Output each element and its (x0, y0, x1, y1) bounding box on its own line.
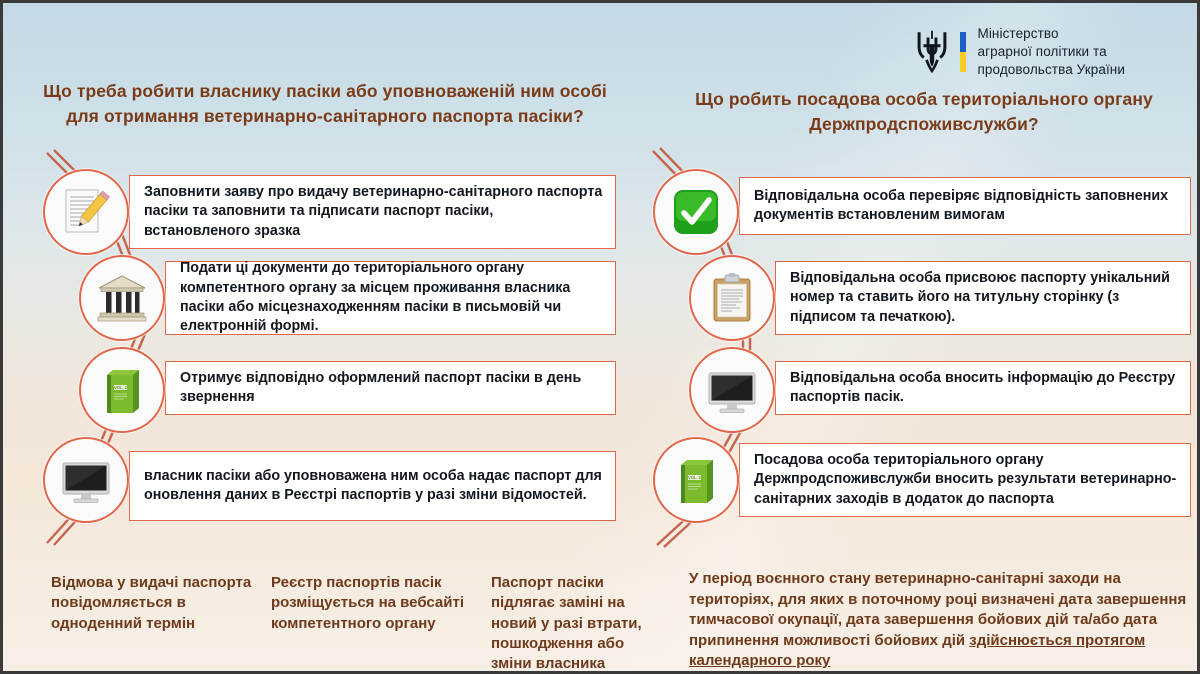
authority-step-2-text: Відповідальна особа присвоює паспорту ун… (790, 269, 1178, 327)
svg-text:VOL. 2: VOL. 2 (114, 385, 128, 390)
classical-building-icon (95, 271, 149, 325)
owner-step-1-text: Заповнити заяву про видачу ветеринарно-с… (144, 183, 603, 241)
authority-step-1-bubble (653, 169, 739, 255)
authority-step-1-text: Відповідальна особа перевіряє відповідні… (754, 187, 1178, 226)
infographic-slide: Міністерство аграрної політики та продов… (0, 0, 1200, 674)
authority-step-2-card: Відповідальна особа присвоює паспорту ун… (775, 261, 1191, 335)
note-and-pencil-icon (59, 185, 113, 239)
authority-step-3-card: Відповідальна особа вносить інформацію д… (775, 361, 1191, 415)
owner-step-4-text: власник пасіки або уповноважена ним особ… (144, 467, 603, 506)
owner-step-4-card: власник пасіки або уповноважена ним особ… (129, 451, 616, 521)
owner-step-2-card: Подати ці документи до територіального о… (165, 261, 616, 335)
clipboard-icon (705, 271, 759, 325)
note-wartime: У період воєнного стану ветеринарно-сані… (689, 569, 1194, 672)
authority-step-4-card: Посадова особа територіального органу Де… (739, 443, 1191, 517)
authority-step-1-card: Відповідальна особа перевіряє відповідні… (739, 177, 1191, 235)
green-book-icon: VOL. 2 (669, 453, 723, 507)
green-book-icon: VOL. 2 (95, 363, 149, 417)
authority-step-3-bubble (689, 347, 775, 433)
owner-step-1-card: Заповнити заяву про видачу ветеринарно-с… (129, 175, 616, 249)
svg-text:VOL. 2: VOL. 2 (688, 475, 702, 480)
authority-step-3-text: Відповідальна особа вносить інформацію д… (790, 369, 1178, 408)
note-refusal: Відмова у видачі паспорта повідомляється… (51, 573, 256, 634)
green-check-mark-icon (669, 185, 723, 239)
owner-step-1-bubble (43, 169, 129, 255)
authority-step-4-text: Посадова особа територіального органу Де… (754, 451, 1178, 509)
owner-step-3-card: Отримує відповідно оформлений паспорт па… (165, 361, 616, 415)
authority-step-2-bubble (689, 255, 775, 341)
desktop-monitor-icon (705, 363, 759, 417)
owner-step-4-bubble (43, 437, 129, 523)
owner-step-3-bubble: VOL. 2 (79, 347, 165, 433)
owner-step-2-bubble (79, 255, 165, 341)
owner-step-3-text: Отримує відповідно оформлений паспорт па… (180, 369, 603, 408)
footer-notes: Відмова у видачі паспорта повідомляється… (3, 563, 1197, 674)
note-replacement: Паспорт пасіки підлягає заміні на новий … (491, 573, 661, 674)
note-registry: Реєстр паспортів пасік розміщується на в… (271, 573, 471, 634)
authority-step-4-bubble: VOL. 2 (653, 437, 739, 523)
desktop-monitor-icon (59, 453, 113, 507)
owner-step-2-text: Подати ці документи до територіального о… (180, 259, 603, 337)
